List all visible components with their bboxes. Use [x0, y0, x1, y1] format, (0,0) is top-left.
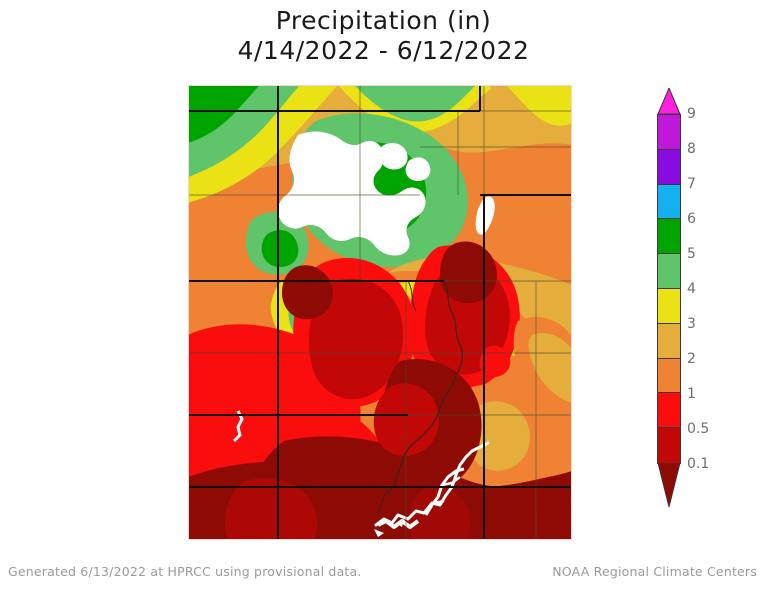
colorbar-band-7	[658, 359, 680, 394]
colorbar-band-9	[658, 428, 680, 463]
page-title: Precipitation (in) 4/14/2022 - 6/12/2022	[0, 6, 767, 65]
colorbar-band-0	[658, 115, 680, 150]
footer-generated-note: Generated 6/13/2022 at HPRCC using provi…	[8, 564, 362, 579]
colorbar-band-2	[658, 185, 680, 220]
colorbar-band-5	[658, 289, 680, 324]
colorbar-tick-6: 6	[687, 211, 696, 227]
colorbar-tick-2: 2	[687, 351, 696, 367]
colorbar-band-8	[658, 393, 680, 428]
colorbar-bands	[657, 114, 681, 464]
colorbar-band-3	[658, 219, 680, 254]
colorbar-tick-5: 5	[687, 246, 696, 262]
colorbar-legend[interactable]: 9876543210.50.1	[657, 88, 681, 508]
title-line-variable: Precipitation (in)	[0, 6, 767, 36]
colorbar-tick-labels: 9876543210.50.1	[683, 114, 753, 464]
colorbar-band-1	[658, 150, 680, 185]
colorbar-band-4	[658, 254, 680, 289]
colorbar-under-arrow-icon	[657, 463, 681, 508]
colorbar-tick-1: 1	[687, 386, 696, 402]
title-line-date-range: 4/14/2022 - 6/12/2022	[0, 36, 767, 66]
colorbar-tick-0-5: 0.5	[687, 421, 709, 437]
colorbar-tick-8: 8	[687, 141, 696, 157]
colorbar-tick-4: 4	[687, 281, 696, 297]
footer-attribution: NOAA Regional Climate Centers	[552, 564, 757, 579]
colorbar-tick-9: 9	[687, 106, 696, 122]
precipitation-map[interactable]	[188, 85, 572, 540]
map-raster	[188, 85, 572, 540]
colorbar-tick-3: 3	[687, 316, 696, 332]
colorbar-tick-0-1: 0.1	[687, 456, 709, 472]
colorbar-tick-7: 7	[687, 176, 696, 192]
colorbar-band-6	[658, 324, 680, 359]
colorbar-over-arrow-icon	[657, 88, 681, 115]
